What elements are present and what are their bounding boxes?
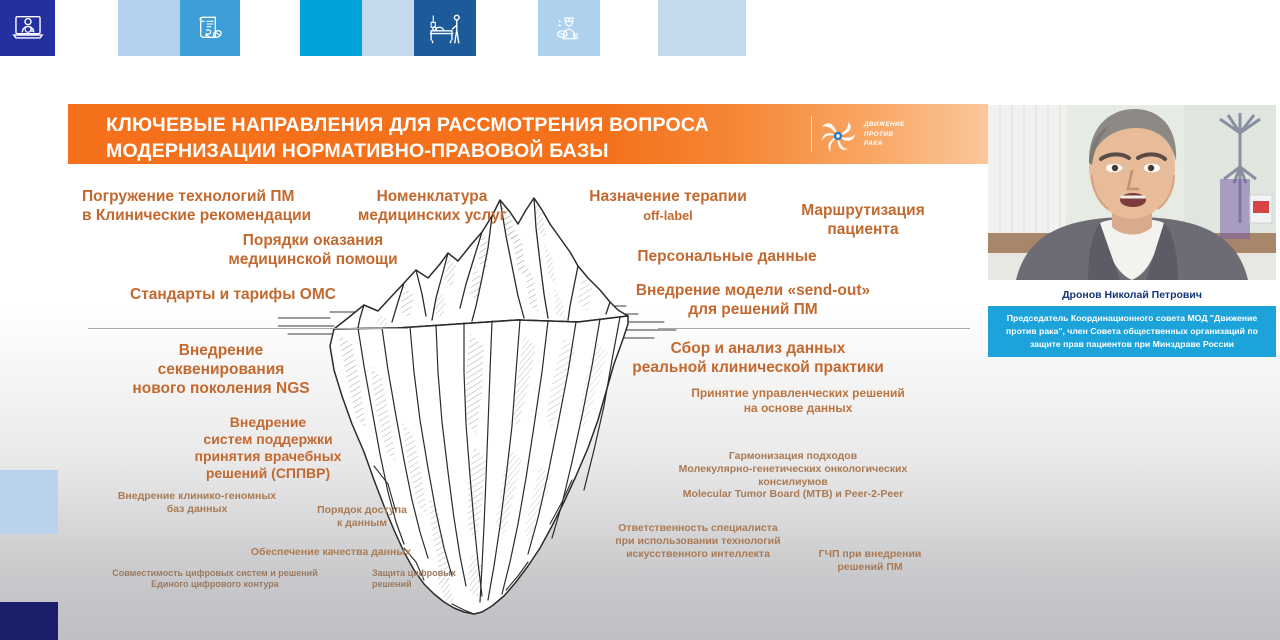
logo-wordmark: ДВИЖЕНИЕ ПРОТИВ РАКА [864, 120, 905, 149]
left-accent-block-light [0, 470, 58, 534]
label-line-2: реальной клинической практики [632, 359, 883, 376]
slide-title-line1: КЛЮЧЕВЫЕ НАПРАВЛЕНИЯ ДЛЯ РАССМОТРЕНИЯ ВО… [106, 112, 796, 138]
label-data-access-order: Порядок доступа к данным [282, 504, 442, 530]
label-line-1: ГЧП при внедрении [819, 548, 922, 560]
label-clinico-genomic-db: Внедрение клинико-геномных баз данных [92, 490, 302, 516]
label-line-1: Погружение технологий ПМ [82, 188, 294, 205]
label-line-2: секвенирования [158, 361, 285, 378]
nurse-medicine-icon [553, 11, 585, 45]
tile-doctor-laptop [0, 0, 55, 56]
label-ai-specialist-liability: Ответственность специалиста при использо… [588, 522, 808, 560]
label-line-2: медицинских услуг [358, 207, 506, 224]
label-digital-systems-compat: Совместимость цифровых систем и решений … [90, 568, 340, 590]
label-line-1: Внедрение модели «send-out» [636, 282, 870, 299]
label-ppp-pm-solutions: ГЧП при внедрении решений ПМ [784, 548, 956, 574]
label-line-1: Порядки оказания [243, 232, 383, 249]
label-line-2: решений ПМ [837, 561, 902, 573]
prescription-pills-icon [194, 12, 226, 44]
label-line-4: решений (СППВР) [206, 465, 330, 481]
participant-video-tile[interactable] [988, 105, 1276, 280]
label-standards-oms: Стандарты и тарифы ОМС [130, 286, 410, 305]
label-line-2: систем поддержки [203, 431, 332, 447]
label-digital-solutions-protection: Защита цифровых решений [372, 568, 512, 590]
label-nomenclature-services: Номенклатура медицинских услуг [332, 188, 532, 226]
label-line-1: Совместимость цифровых систем и решений [112, 568, 317, 578]
label-send-out-model: Внедрение модели «send-out» для решений … [608, 282, 898, 320]
presentation-slide: КЛЮЧЕВЫЕ НАПРАВЛЕНИЯ ДЛЯ РАССМОТРЕНИЯ ВО… [68, 104, 988, 624]
label-line-4: Molecular Tumor Board (MTB) и Peer-2-Pee… [683, 488, 903, 500]
tile-patient-bed [414, 0, 476, 56]
label-line-2: off-label [643, 208, 692, 223]
participant-webcam-image [988, 105, 1276, 280]
label-line-1: Защита цифровых [372, 568, 456, 578]
label-line-1: Персональные данные [637, 248, 816, 265]
label-line-2: медицинской помощи [228, 251, 397, 268]
label-line-1: Внедрение клинико-геномных [118, 490, 276, 502]
logo-line1: ДВИЖЕНИЕ [864, 120, 905, 130]
label-data-driven-decisions: Принятие управленческих решений на основ… [648, 386, 948, 415]
spiral-swirl-icon [818, 116, 858, 156]
logo-line3: РАКА [864, 139, 905, 149]
label-line-2: на основе данных [744, 401, 853, 415]
label-line-1: Маршрутизация [801, 202, 925, 219]
label-molecular-tumor-board: Гармонизация подходов Молекулярно-генети… [628, 450, 958, 501]
tile-plain-light-3 [658, 0, 746, 56]
label-line-1: Принятие управленческих решений [691, 386, 905, 400]
label-line-2: решений [372, 579, 412, 589]
tile-prescription [180, 0, 240, 56]
label-line-2: баз данных [167, 503, 228, 515]
tile-nurse [538, 0, 600, 56]
doctor-laptop-icon [11, 11, 45, 45]
label-cdss-sppvr: Внедрение систем поддержки принятия врач… [178, 414, 358, 482]
label-personal-data: Персональные данные [592, 248, 862, 267]
label-line-2: к данным [337, 517, 387, 529]
label-data-quality: Обеспечение качества данных [216, 546, 446, 559]
label-line-3: принятия врачебных [195, 448, 342, 464]
tile-plain-light-1 [118, 0, 180, 56]
waterline-rule-right [658, 328, 970, 329]
label-line-1: Внедрение [179, 342, 264, 359]
label-line-1: Сбор и анализ данных [671, 340, 846, 357]
top-banner-strip [0, 0, 1280, 56]
label-line-1: Назначение терапии [589, 188, 746, 205]
label-line-1: Обеспечение качества данных [251, 546, 411, 558]
slide-header-bar: КЛЮЧЕВЫЕ НАПРАВЛЕНИЯ ДЛЯ РАССМОТРЕНИЯ ВО… [68, 104, 988, 164]
label-line-2: Молекулярно-генетических онкологических [679, 463, 908, 475]
label-line-1: Ответственность специалиста [618, 522, 778, 534]
label-line-3: консилиумов [758, 476, 828, 488]
label-line-1: Внедрение [230, 414, 306, 430]
label-line-2: для решений ПМ [688, 301, 817, 318]
organization-logo: ДВИЖЕНИЕ ПРОТИВ РАКА [818, 114, 968, 156]
label-line-3: нового поколения NGS [132, 380, 309, 397]
label-pm-tech-clinical-rec: Погружение технологий ПМ в Клинические р… [82, 188, 332, 226]
tile-plain-cyan [300, 0, 362, 56]
label-ngs-sequencing: Внедрение секвенирования нового поколени… [106, 342, 336, 399]
label-line-3: искусственного интеллекта [626, 548, 770, 560]
logo-line2: ПРОТИВ [864, 130, 905, 140]
waterline-rule-left [88, 328, 408, 329]
label-real-world-data: Сбор и анализ данных реальной клиническо… [608, 340, 908, 378]
label-patient-routing: Маршрутизация пациента [768, 202, 958, 240]
label-line-1: Стандарты и тарифы ОМС [130, 286, 336, 303]
label-line-1: Порядок доступа [317, 504, 407, 516]
patient-bed-icon [427, 11, 463, 45]
logo-divider [811, 116, 812, 152]
label-line-1: Гармонизация подходов [729, 450, 857, 462]
label-therapy-off-label: Назначение терапии off-label [568, 188, 768, 226]
participant-name: Дронов Николай Петрович [988, 289, 1276, 301]
slide-stage: КЛЮЧЕВЫЕ НАПРАВЛЕНИЯ ДЛЯ РАССМОТРЕНИЯ ВО… [0, 0, 1280, 640]
label-care-order: Порядки оказания медицинской помощи [198, 232, 428, 270]
slide-title-line2: МОДЕРНИЗАЦИИ НОРМАТИВНО-ПРАВОВОЙ БАЗЫ [106, 138, 796, 164]
label-line-1: Номенклатура [377, 188, 488, 205]
label-line-2: при использовании технологий [615, 535, 780, 547]
label-line-2: пациента [827, 221, 898, 238]
left-accent-block-dark [0, 602, 58, 640]
slide-title: КЛЮЧЕВЫЕ НАПРАВЛЕНИЯ ДЛЯ РАССМОТРЕНИЯ ВО… [106, 112, 796, 164]
label-line-2: в Клинические рекомендации [82, 207, 311, 224]
participant-role-badge: Председатель Координационного совета МОД… [988, 306, 1276, 357]
label-line-2: Единого цифрового контура [151, 579, 279, 589]
tile-plain-light-2 [362, 0, 414, 56]
